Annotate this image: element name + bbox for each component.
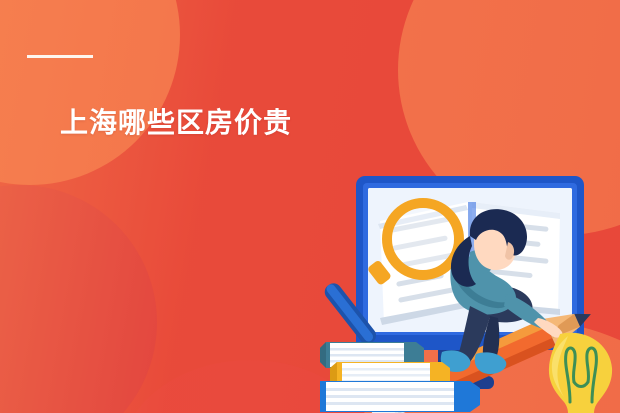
background-circle-top-left [0,0,180,185]
online-research-illustration [320,166,620,413]
page-title: 上海哪些区房价贵 [60,107,292,139]
background-circle-bottom-left [0,185,157,413]
title-underline-rule [27,55,93,58]
book-blue [320,381,480,412]
lightbulb-icon [549,333,612,413]
banner-card: 上海哪些区房价贵 [0,0,620,413]
